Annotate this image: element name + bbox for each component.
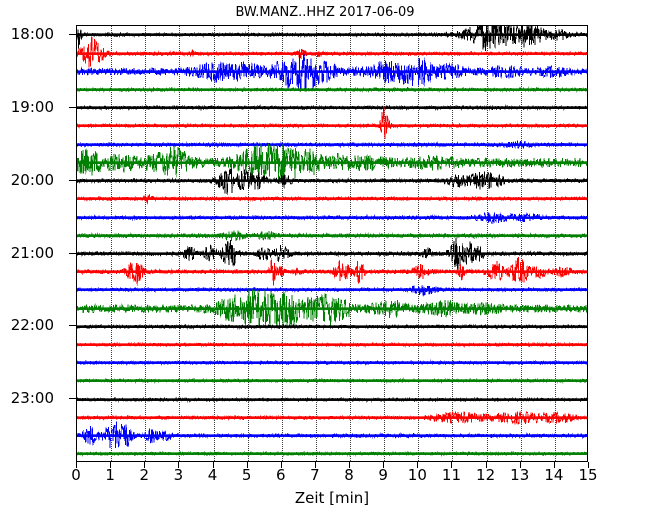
- x-axis-label: Zeit [min]: [76, 489, 588, 507]
- x-tick-label: 8: [344, 466, 354, 484]
- x-tick-label: 5: [242, 466, 252, 484]
- y-tick-label: 20:00: [11, 171, 54, 189]
- y-tick-mark: [69, 107, 77, 108]
- x-tick-label: 15: [578, 466, 597, 484]
- page-title: BW.MANZ..HHZ 2017-06-09: [0, 5, 650, 20]
- x-tick-label: 4: [208, 466, 218, 484]
- x-tick-label: 9: [378, 466, 388, 484]
- y-tick-label: 21:00: [11, 244, 54, 262]
- x-tick-label: 0: [71, 466, 81, 484]
- x-tick-label: 1: [105, 466, 115, 484]
- y-tick-label: 23:00: [11, 389, 54, 407]
- y-tick-mark: [69, 180, 77, 181]
- y-tick-mark: [69, 253, 77, 254]
- y-tick-mark: [69, 325, 77, 326]
- y-tick-mark: [69, 34, 77, 35]
- y-tick-label: 18:00: [11, 25, 54, 43]
- x-tick-label: 13: [510, 466, 529, 484]
- y-tick-label: 19:00: [11, 98, 54, 116]
- plot-axes-frame: [76, 25, 588, 462]
- x-tick-label: 7: [310, 466, 320, 484]
- x-tick-label: 14: [544, 466, 563, 484]
- x-tick-label: 3: [174, 466, 184, 484]
- x-tick-label: 10: [408, 466, 427, 484]
- x-tick-label: 11: [442, 466, 461, 484]
- x-tick-label: 6: [276, 466, 286, 484]
- x-tick-label: 2: [139, 466, 149, 484]
- seismogram-plot-page: BW.MANZ..HHZ 2017-06-09 UTC (Lokalzeit =…: [0, 0, 650, 520]
- seismic-trace: [77, 430, 587, 462]
- y-tick-label: 22:00: [11, 316, 54, 334]
- x-tick-label: 12: [476, 466, 495, 484]
- y-tick-mark: [69, 398, 77, 399]
